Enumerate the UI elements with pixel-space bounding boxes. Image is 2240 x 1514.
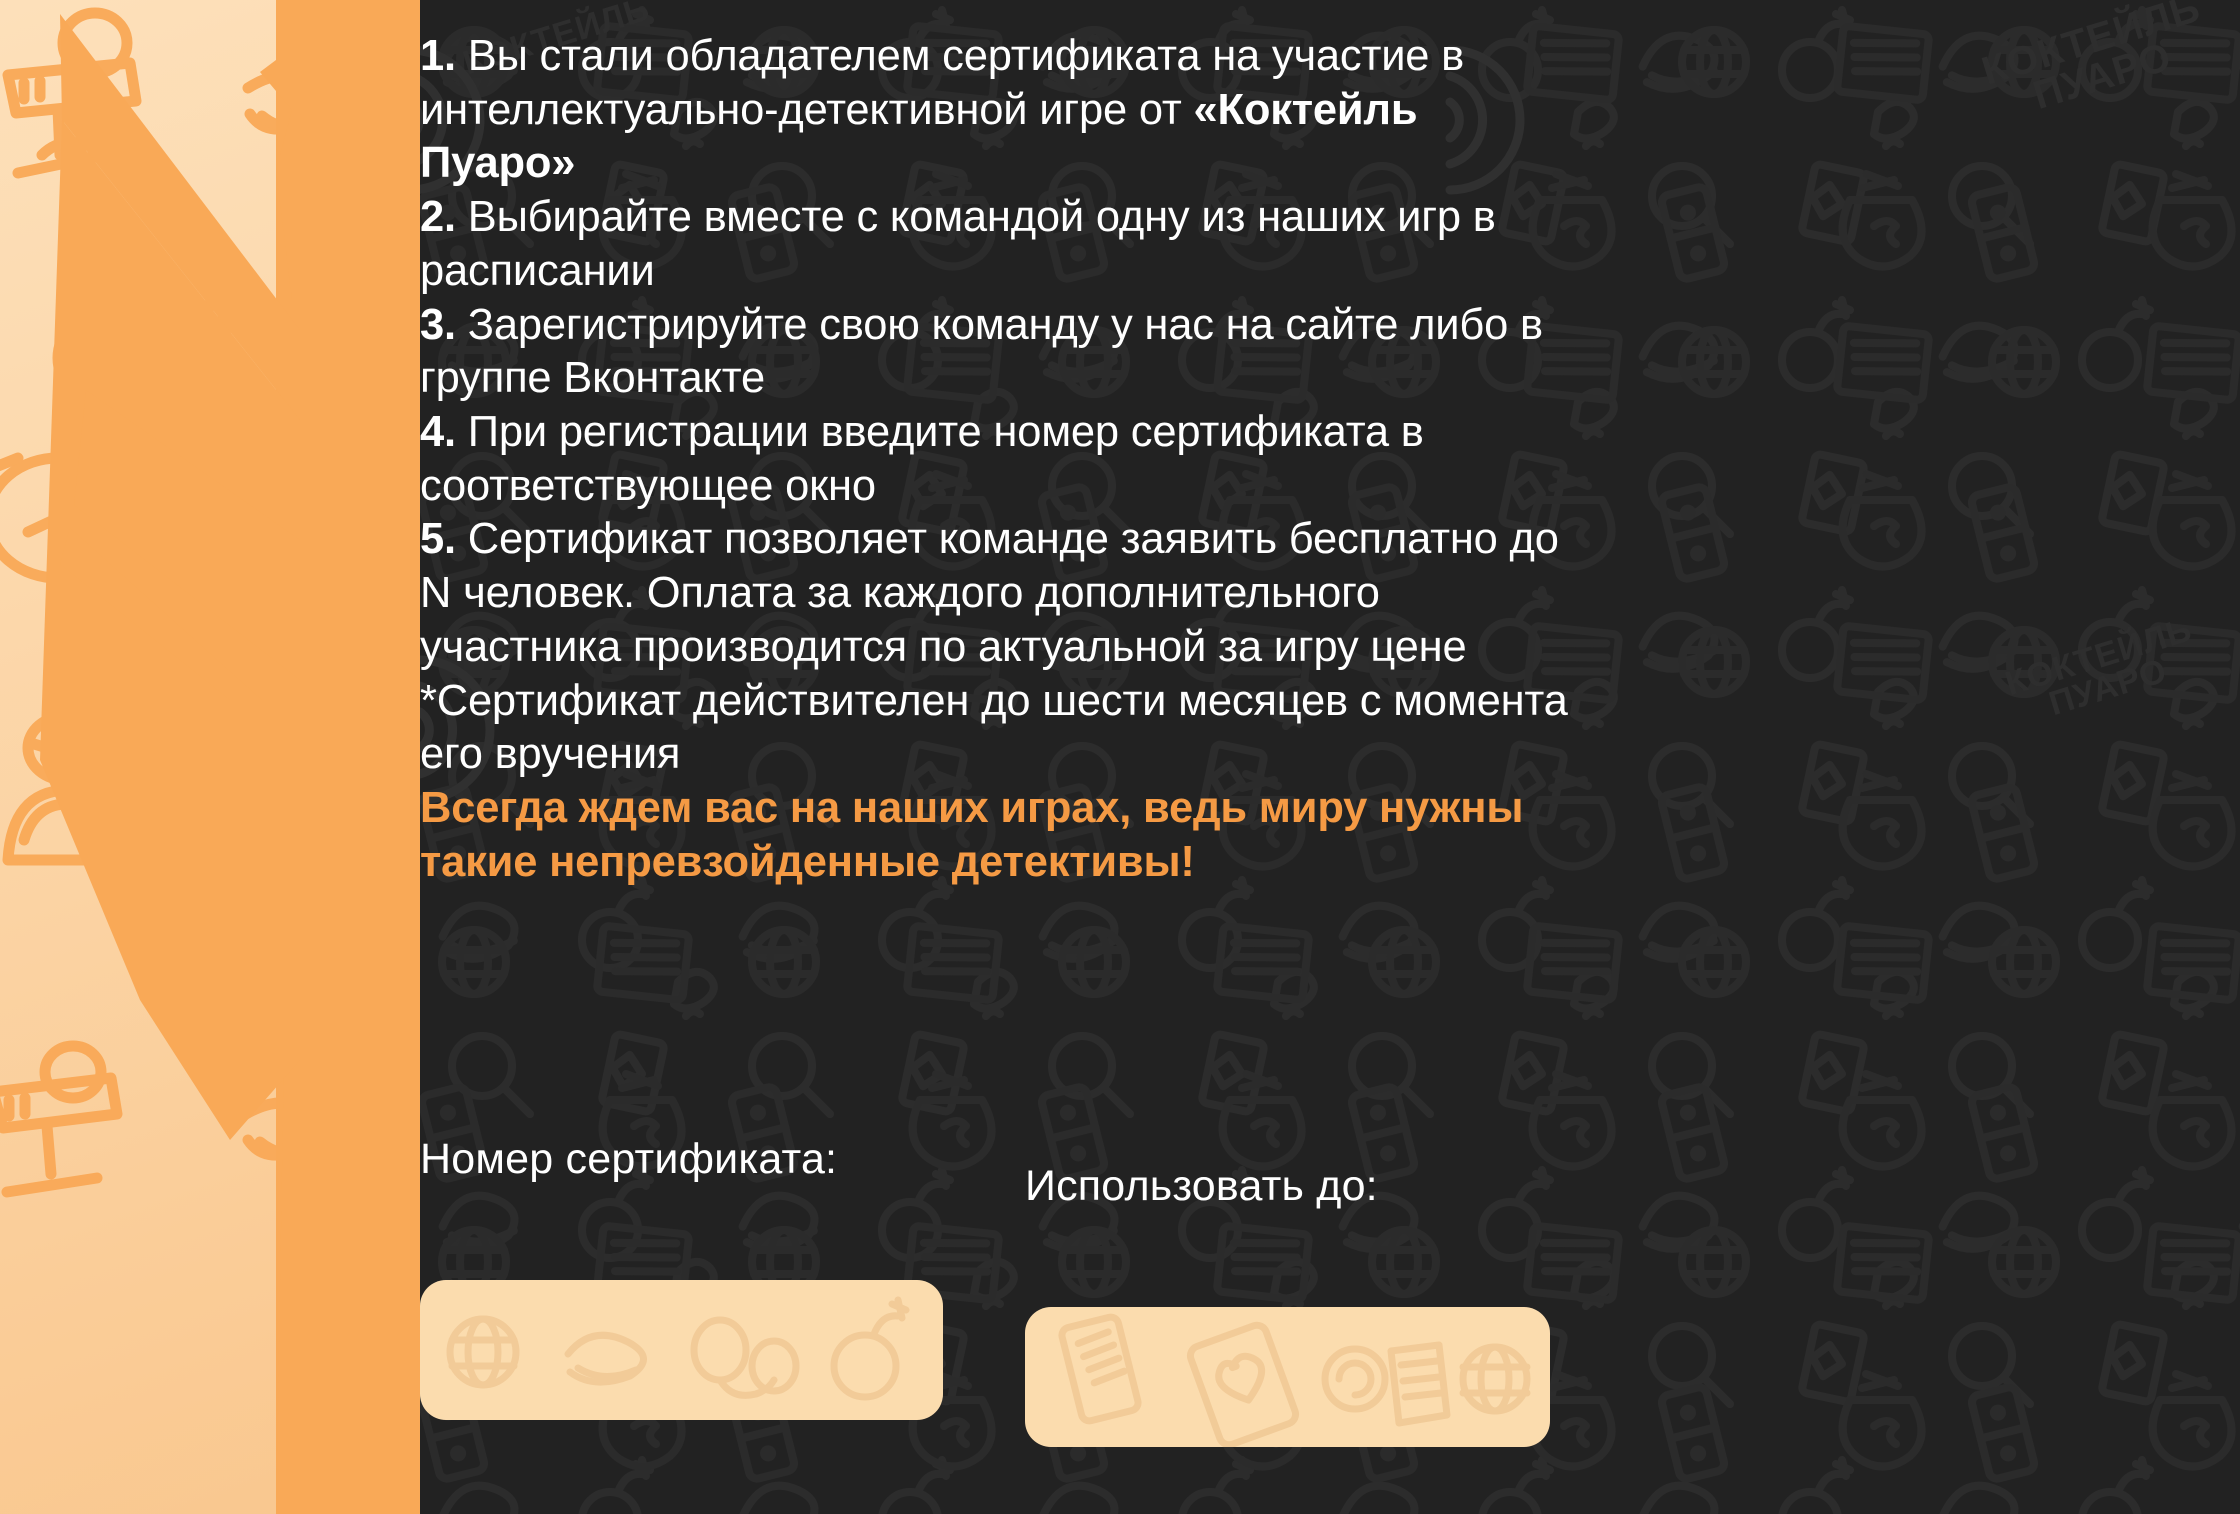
certificate-number-label: Номер сертификата: — [420, 1135, 837, 1184]
field-doodles — [1025, 1307, 1550, 1447]
orange-vertical-band — [276, 0, 420, 1514]
rule-number: 4. — [420, 408, 456, 456]
rule-item-2: 2. Выбирайте вместе с командой одну из н… — [420, 191, 1580, 298]
rules-list: 1. Вы стали обладателем сертификата на у… — [420, 30, 1580, 890]
rule-item-4: 4. При регистрации введите номер сертифи… — [420, 406, 1580, 513]
magnifier-doodle-icon — [0, 5, 190, 205]
rule-item-5: 5. Сертификат позволяет команде заявить … — [420, 513, 1580, 674]
left-decorative-panel — [0, 0, 420, 1514]
certificate-number-input[interactable] — [420, 1280, 943, 1420]
call-to-action-text: Всегда ждем вас на наших играх, ведь мир… — [420, 782, 1580, 889]
rule-number: 1. — [420, 32, 456, 80]
stamp-doodle-icon — [50, 240, 270, 440]
certificate-card: КОКТЕЙЛЬ ПУАРО КОКТЕЙЛЬ ПУАРО КОКТЕЙЛЬ 1… — [0, 0, 2240, 1514]
cocktail-doodle-icon — [0, 1030, 185, 1230]
fields-section: Номер сертификата: — [420, 1135, 2240, 1514]
rule-text: Сертификат позволяет команде заявить бес… — [420, 515, 1559, 670]
rule-item-3: 3. Зарегистрируйте свою команду у нас на… — [420, 299, 1580, 406]
suspect-doodle-icon — [0, 700, 190, 890]
rule-text: Выбирайте вместе с командой одну из наши… — [420, 193, 1496, 295]
field-doodles — [420, 1280, 943, 1420]
use-until-input[interactable] — [1025, 1307, 1550, 1447]
content-area: КОКТЕЙЛЬ ПУАРО КОКТЕЙЛЬ ПУАРО КОКТЕЙЛЬ 1… — [420, 0, 2240, 1514]
clock-doodle-icon — [0, 420, 170, 620]
rule-text: При регистрации введите номер сертификат… — [420, 408, 1424, 510]
rule-number: 3. — [420, 301, 456, 349]
rule-text: Зарегистрируйте свою команду у нас на са… — [420, 301, 1543, 403]
use-until-label: Использовать до: — [1025, 1162, 1378, 1211]
rule-number: 2. — [420, 193, 456, 241]
footnote: *Сертификат действителен до шести месяце… — [420, 675, 1580, 782]
rule-number: 5. — [420, 515, 456, 563]
rule-item-1: 1. Вы стали обладателем сертификата на у… — [420, 30, 1580, 191]
